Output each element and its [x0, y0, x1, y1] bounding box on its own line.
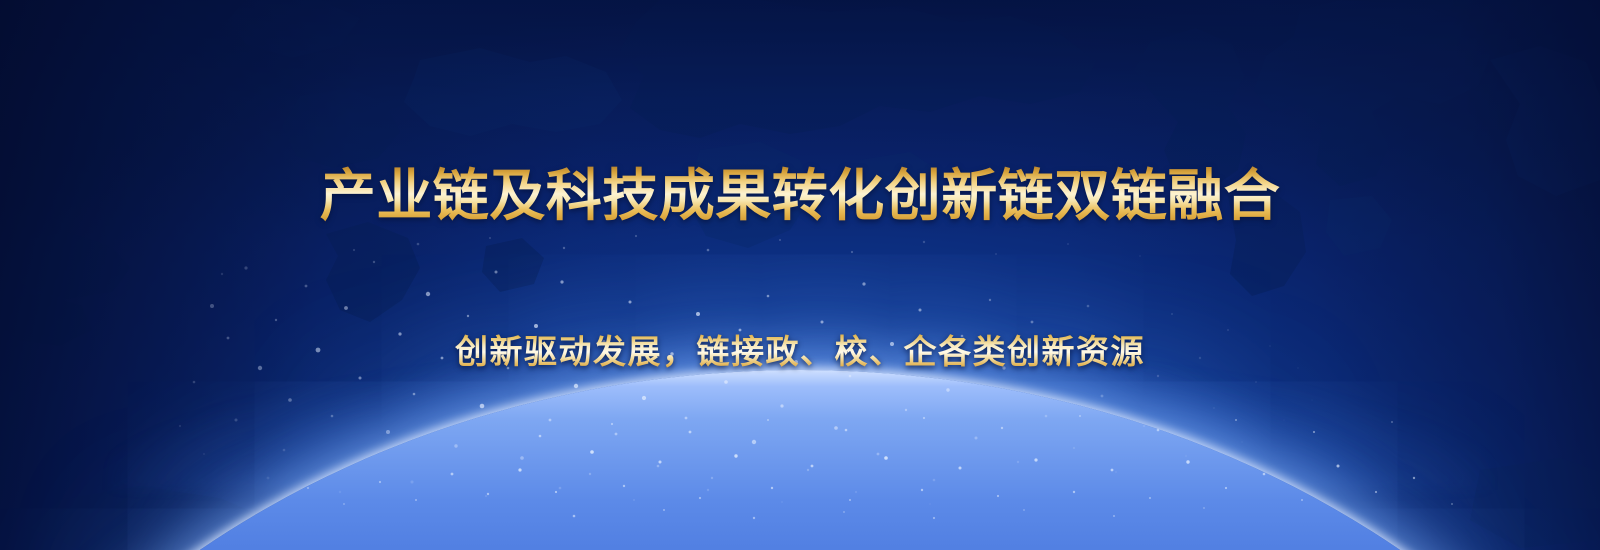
hero-banner: 产业链及科技成果转化创新链双链融合 创新驱动发展，链接政、校、企各类创新资源 [0, 0, 1600, 550]
banner-subtitle: 创新驱动发展，链接政、校、企各类创新资源 [0, 330, 1600, 374]
banner-title: 产业链及科技成果转化创新链双链融合 [0, 166, 1600, 228]
sky-glow [0, 250, 1600, 550]
